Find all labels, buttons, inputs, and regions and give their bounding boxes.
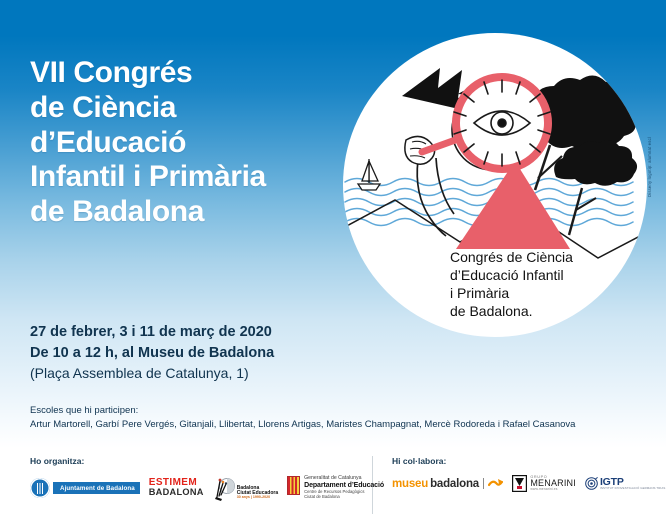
generalitat-line-4: Ciutat de Badalona bbox=[304, 495, 384, 500]
igtp-text: IGTP INSTITUT D’INVESTIGACIÓ GERMANS TRI… bbox=[600, 477, 666, 491]
organizers-heading: Ho organitza: bbox=[30, 456, 366, 466]
ciutat-educadora-mark-icon bbox=[213, 475, 235, 501]
emblem-caption-line-4: de Badalona. bbox=[450, 303, 533, 319]
event-time-venue: De 10 a 12 h, al Museu de Badalona bbox=[30, 343, 360, 364]
museu-word-museu: museu bbox=[392, 478, 428, 490]
logo-ajuntament-de-badalona[interactable]: Ajuntament de Badalona bbox=[30, 478, 140, 498]
emblem-illustration: Congrés de Ciència d’Educació Infantil i… bbox=[340, 30, 650, 340]
page-title: VII Congrés de Ciència d’Educació Infant… bbox=[30, 56, 360, 230]
title-line-4: Infantil i Primària bbox=[30, 160, 360, 195]
emblem-caption-line-1: Congrés de Ciència bbox=[450, 249, 573, 265]
menarini-mark-icon bbox=[512, 475, 527, 492]
logo-igtp[interactable]: IGTP INSTITUT D’INVESTIGACIÓ GERMANS TRI… bbox=[585, 477, 666, 491]
logo-generalitat-de-catalunya[interactable]: Generalitat de Catalunya Departament d’E… bbox=[287, 476, 384, 499]
collaborator-logos: museu badalona GRUPO MENARINI www.mena bbox=[392, 475, 652, 492]
schools-heading: Escoles que hi participen: bbox=[30, 404, 645, 418]
logo-estimem-badalona[interactable]: ESTIMEM BADALONA bbox=[149, 478, 204, 498]
generalitat-text: Generalitat de Catalunya Departament d’E… bbox=[304, 476, 384, 499]
congress-emblem: Congrés de Ciència d’Educació Infantil i… bbox=[340, 30, 650, 340]
participating-schools: Escoles que hi participen: Artur Martore… bbox=[30, 404, 645, 433]
poster-canvas: VII Congrés de Ciència d’Educació Infant… bbox=[0, 0, 666, 524]
schools-list: Artur Martorell, Garbí Pere Vergés, Gita… bbox=[30, 418, 645, 432]
ciutat-line-3: 30 anys | 1990-2020 bbox=[237, 496, 278, 500]
estimem-line-2: BADALONA bbox=[149, 488, 204, 497]
title-line-2: de Ciència bbox=[30, 91, 360, 126]
badalona-crest-icon bbox=[30, 478, 50, 498]
igtp-line-2: INSTITUT D’INVESTIGACIÓ GERMANS TRIAS I … bbox=[600, 487, 666, 490]
menarini-text: GRUPO MENARINI www.menarini.es bbox=[530, 475, 576, 492]
title-line-3: d’Educació bbox=[30, 126, 360, 161]
emblem-caption-line-2: d’Educació Infantil bbox=[450, 267, 564, 283]
igtp-spiral-icon bbox=[585, 477, 598, 490]
ciutat-educadora-text: Badalona Ciutat Educadora 30 anys | 1990… bbox=[237, 486, 278, 501]
logo-museu-badalona[interactable]: museu badalona bbox=[392, 478, 503, 490]
collaborators-heading: Hi col·labora: bbox=[392, 456, 652, 466]
logo-grupo-menarini[interactable]: GRUPO MENARINI www.menarini.es bbox=[512, 475, 576, 492]
event-address: (Plaça Assemblea de Catalunya, 1) bbox=[30, 363, 360, 384]
museu-swoosh-icon bbox=[488, 478, 503, 489]
emblem-caption-line-3: i Primària bbox=[450, 285, 509, 301]
title-line-1: VII Congrés bbox=[30, 56, 360, 91]
senyera-flag-icon bbox=[287, 476, 300, 495]
design-credit: Disseny logotip: alumnat escl bbox=[647, 137, 652, 197]
menarini-line-3: www.menarini.es bbox=[530, 488, 576, 492]
logo-badalona-ciutat-educadora[interactable]: Badalona Ciutat Educadora 30 anys | 1990… bbox=[213, 475, 278, 501]
collaborators-section: Hi col·labora: museu badalona GRUPO bbox=[392, 456, 652, 492]
ajuntament-label: Ajuntament de Badalona bbox=[53, 482, 140, 494]
event-details: 27 de febrer, 3 i 11 de març de 2020 De … bbox=[30, 322, 360, 384]
event-dates: 27 de febrer, 3 i 11 de març de 2020 bbox=[30, 322, 360, 343]
museu-divider bbox=[483, 478, 484, 489]
title-line-5: de Badalona bbox=[30, 195, 360, 230]
organizer-logos: Ajuntament de Badalona ESTIMEM BADALONA bbox=[30, 475, 366, 501]
museu-word-badalona: badalona bbox=[430, 478, 479, 490]
organizers-section: Ho organitza: Ajuntament de Badalona EST… bbox=[30, 456, 366, 501]
